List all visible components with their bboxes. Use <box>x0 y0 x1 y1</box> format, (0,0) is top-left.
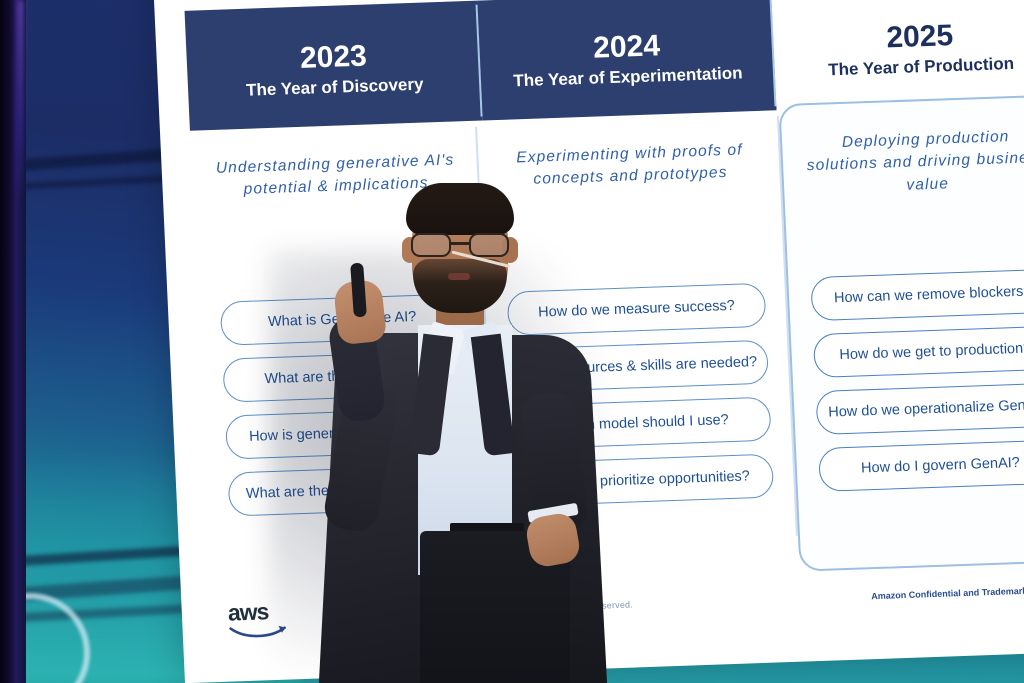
question-pill: How do we operationalize GenAI? <box>815 383 1024 435</box>
aws-logo-icon: aws <box>227 599 293 644</box>
question-pill: How do we get to production? <box>813 326 1024 378</box>
hair <box>406 183 514 235</box>
footer-confidentiality: Amazon Confidential and Trademark. <box>871 586 1024 602</box>
column-header-2023: 2023 The Year of Discovery <box>185 1 484 131</box>
glasses-bridge <box>451 242 469 245</box>
column-2025: Deploying production solutions and drivi… <box>778 94 1024 572</box>
question-list-2025: How can we remove blockers? How do we ge… <box>810 269 1024 492</box>
lens-right <box>469 233 509 257</box>
aws-wordmark: aws <box>227 599 292 624</box>
column-description-2025: Deploying production solutions and drivi… <box>804 125 1024 241</box>
column-subtitle-2023: The Year of Discovery <box>246 74 424 100</box>
stage-scene: Production 2023 The Year of Discovery 20… <box>0 0 1024 683</box>
speaker-figure <box>300 185 600 683</box>
mouth <box>448 273 470 280</box>
column-year-2025: 2025 <box>886 20 954 54</box>
question-pill: How can we remove blockers? <box>810 269 1024 321</box>
presentation-clicker <box>350 263 367 318</box>
aws-smile-icon <box>228 624 289 640</box>
column-subtitle-2024: The Year of Experimentation <box>513 63 743 91</box>
column-year-2024: 2024 <box>593 31 661 65</box>
beard <box>413 259 507 313</box>
question-pill: How do I govern GenAI? <box>818 440 1024 492</box>
lens-left <box>411 233 451 257</box>
column-year-2023: 2023 <box>299 41 367 75</box>
column-header-2024: 2024 The Year of Experimentation <box>478 0 777 120</box>
column-subtitle-2025: The Year of Production <box>828 54 1015 80</box>
stage-edge-glow <box>18 0 23 200</box>
column-header-2025: 2025 The Year of Production <box>771 0 1024 110</box>
